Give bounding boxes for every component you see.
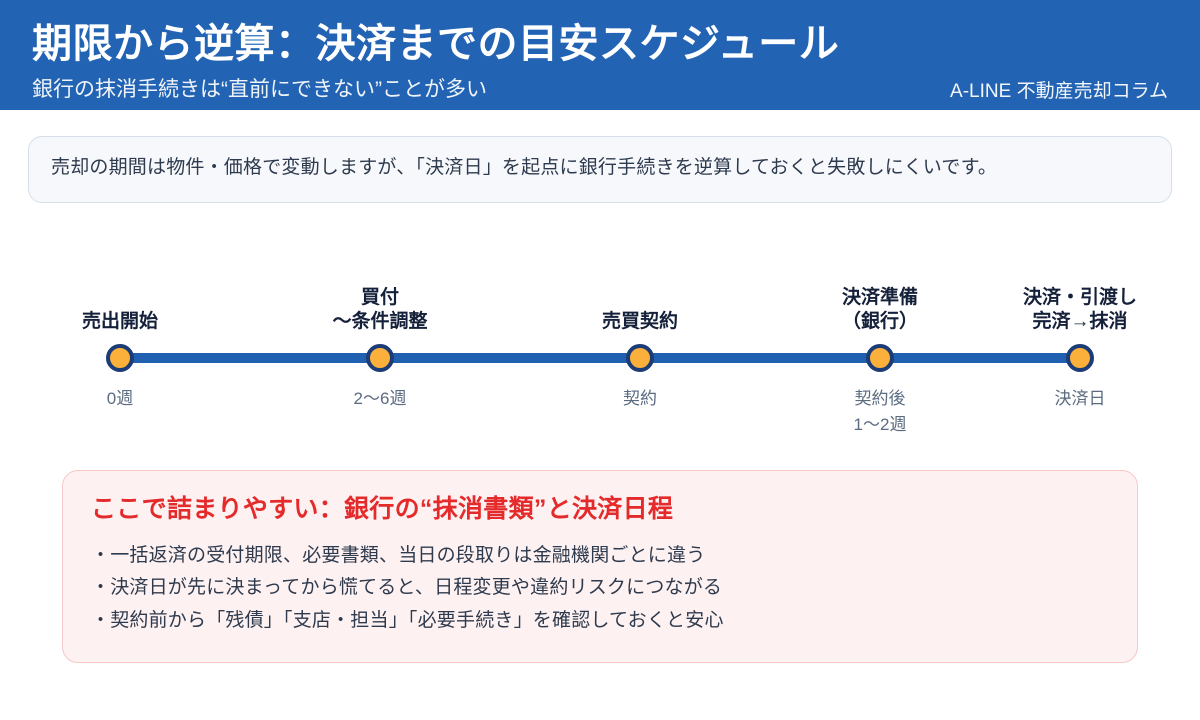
timeline-node-4-dot-icon bbox=[866, 344, 894, 372]
timeline-track bbox=[120, 353, 1080, 363]
timeline-node-4-label: 決済準備 （銀行） bbox=[770, 286, 990, 334]
timeline-node-5-label-wrap: 決済・引渡し 完済→抹消 bbox=[970, 250, 1190, 334]
intro-note-box: 売却の期間は物件・価格で変動しますが、「決済日」を起点に銀行手続きを逆算しておく… bbox=[28, 136, 1172, 203]
timeline-node-3-sublabel: 契約 bbox=[530, 386, 750, 412]
timeline-node-4-sublabel: 契約後 1〜2週 bbox=[770, 386, 990, 437]
timeline-node-1-sublabel: 0週 bbox=[10, 386, 230, 412]
timeline-node-5-sublabel: 決済日 bbox=[970, 386, 1190, 412]
timeline-node-2-label-wrap: 買付 〜条件調整 bbox=[270, 250, 490, 334]
timeline-node-3-label: 売買契約 bbox=[530, 310, 750, 334]
timeline-node-4-label-wrap: 決済準備 （銀行） bbox=[770, 250, 990, 334]
timeline-node-1-label-wrap: 売出開始 bbox=[10, 250, 230, 334]
timeline-node-3-label-wrap: 売買契約 bbox=[530, 250, 750, 334]
intro-note-text: 売却の期間は物件・価格で変動しますが、「決済日」を起点に銀行手続きを逆算しておく… bbox=[51, 153, 1149, 184]
warning-heading: ここで詰まりやすい：銀行の“抹消書類”と決済日程 bbox=[91, 493, 1109, 526]
brand-label: A-LINE 不動産売却コラム bbox=[950, 82, 1168, 103]
page-header: 期限から逆算：決済までの目安スケジュール 銀行の抹消手続きは“直前にできない”こ… bbox=[0, 0, 1200, 110]
warning-box: ここで詰まりやすい：銀行の“抹消書類”と決済日程 ・一括返済の受付期限、必要書類… bbox=[62, 470, 1138, 663]
timeline-node-1-label: 売出開始 bbox=[10, 310, 230, 334]
timeline-node-2-label: 買付 〜条件調整 bbox=[270, 286, 490, 334]
timeline: 売出開始 0週 買付 〜条件調整 2〜6週 売買契約 契約 決済準備 （銀行） … bbox=[0, 250, 1200, 450]
timeline-node-2-dot-icon bbox=[366, 344, 394, 372]
warning-list-item: ・契約前から「残債」「支店・担当」「必要手続き」を確認しておくと安心 bbox=[91, 605, 1109, 638]
timeline-node-5-dot-icon bbox=[1066, 344, 1094, 372]
warning-list: ・一括返済の受付期限、必要書類、当日の段取りは金融機関ごとに違う ・決済日が先に… bbox=[91, 540, 1109, 638]
timeline-node-1-dot-icon bbox=[106, 344, 134, 372]
warning-list-item: ・一括返済の受付期限、必要書類、当日の段取りは金融機関ごとに違う bbox=[91, 540, 1109, 573]
timeline-node-3-dot-icon bbox=[626, 344, 654, 372]
page-subtitle: 銀行の抹消手続きは“直前にできない”ことが多い bbox=[32, 78, 487, 101]
timeline-node-2-sublabel: 2〜6週 bbox=[270, 386, 490, 412]
page-title: 期限から逆算：決済までの目安スケジュール bbox=[32, 22, 839, 67]
timeline-node-5-label: 決済・引渡し 完済→抹消 bbox=[970, 286, 1190, 334]
warning-list-item: ・決済日が先に決まってから慌てると、日程変更や違約リスクにつながる bbox=[91, 572, 1109, 605]
